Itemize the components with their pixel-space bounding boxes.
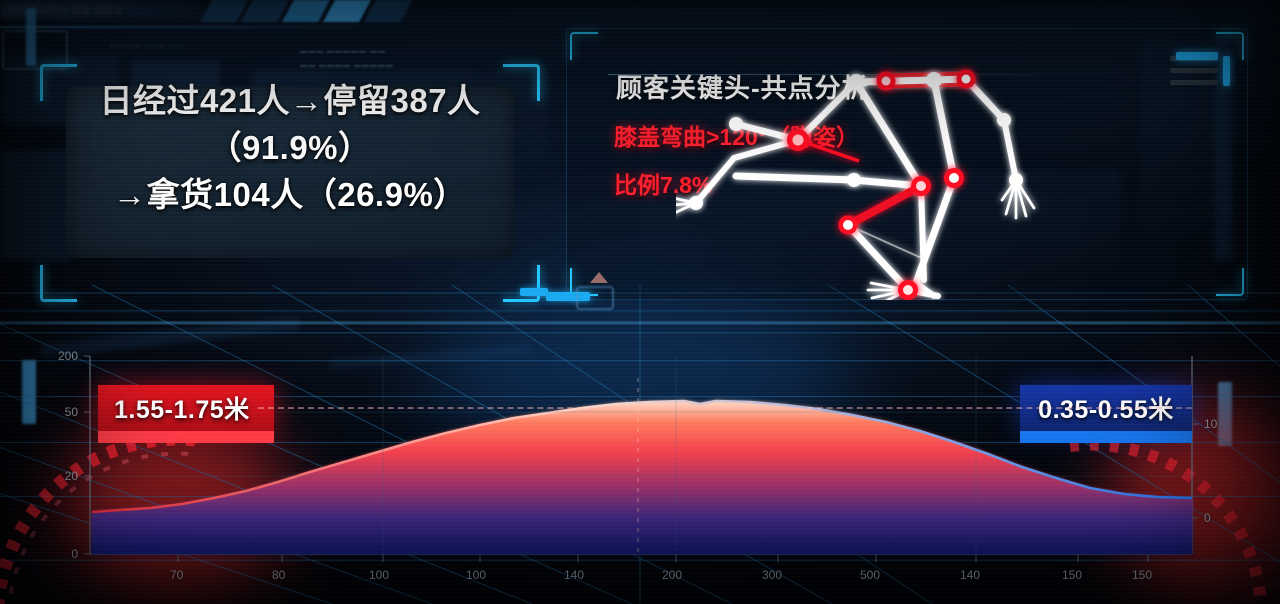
background-microtext-2: ▭▭▭▭ ▭▭▭ ▭▭ (110, 42, 184, 50)
corner-bracket-bottom-left-icon (40, 265, 77, 302)
x-tick-7: 500 (860, 568, 880, 582)
status-tab-center (520, 288, 548, 296)
legend-connector-dashed-line (258, 407, 1192, 409)
y-tick-left-1: 50 (44, 405, 78, 419)
x-tick-4: 140 (564, 568, 584, 582)
decorative-stripes (200, 0, 412, 22)
funnel-line-2: （91.9%） (40, 125, 540, 172)
hud-fragment-center (576, 286, 614, 310)
x-tick-5: 200 (662, 568, 682, 582)
legend-badge-tall-range[interactable]: 1.55-1.75米 (98, 385, 274, 431)
top-accent-line (0, 26, 420, 28)
y-tick-left-0: 200 (44, 349, 78, 363)
x-tick-2: 100 (369, 568, 389, 582)
x-tick-10: 150 (1132, 568, 1152, 582)
crouching-skeleton-pose (676, 28, 1248, 300)
legend-badge-short-underbar (1020, 431, 1192, 443)
height-distribution-chart[interactable]: 200 50 20 0 10 0 70 80 100 100 140 200 3… (0, 326, 1280, 604)
collapse-triangle-icon[interactable] (590, 272, 608, 283)
x-tick-1: 80 (272, 568, 285, 582)
funnel-stat-text: 日经过421人→停留387人 （91.9%） →拿货104人（26.9%） (40, 78, 540, 219)
corner-bracket-bottom-right-icon (503, 265, 540, 302)
y-tick-right-0: 10 (1204, 417, 1217, 431)
legend-badge-tall-label: 1.55-1.75米 (114, 390, 250, 426)
dashboard-root: ⬛⬛ ⬛⬛⬛⬛ ⬛⬛ ⬛⬛⬛ ▭▭▭▭ ▭▭▭ ▭▭ ▬▬▬ ▬▬▬▬▬ ▬▬ … (0, 0, 1280, 604)
y-tick-left-2: 20 (44, 469, 78, 483)
chart-canvas (0, 326, 1280, 604)
x-tick-3: 100 (466, 568, 486, 582)
left-edge-indicator-bar (26, 8, 36, 66)
x-tick-6: 300 (762, 568, 782, 582)
y-tick-left-3: 0 (44, 547, 78, 561)
legend-badge-tall-underbar (98, 431, 274, 443)
funnel-line-3: →拿货104人（26.9%） (40, 172, 540, 219)
y-tick-right-1: 0 (1204, 511, 1211, 525)
corner-bracket-top-left-icon (570, 32, 598, 60)
skeleton-keypoint-analysis-panel[interactable]: 顾客关键头-共点分析 膝盖弯曲>120°（蹲姿） 比例7.8% (566, 28, 1248, 300)
funnel-line-1: 日经过421人→停留387人 (40, 78, 540, 125)
x-tick-8: 140 (960, 568, 980, 582)
background-microtext-3: ▬▬▬ ▬▬▬▬▬ ▬▬ (300, 48, 386, 55)
x-tick-9: 150 (1062, 568, 1082, 582)
x-tick-0: 70 (170, 568, 183, 582)
traffic-funnel-stat-panel[interactable]: 日经过421人→停留387人 （91.9%） →拿货104人（26.9%） (40, 64, 540, 302)
